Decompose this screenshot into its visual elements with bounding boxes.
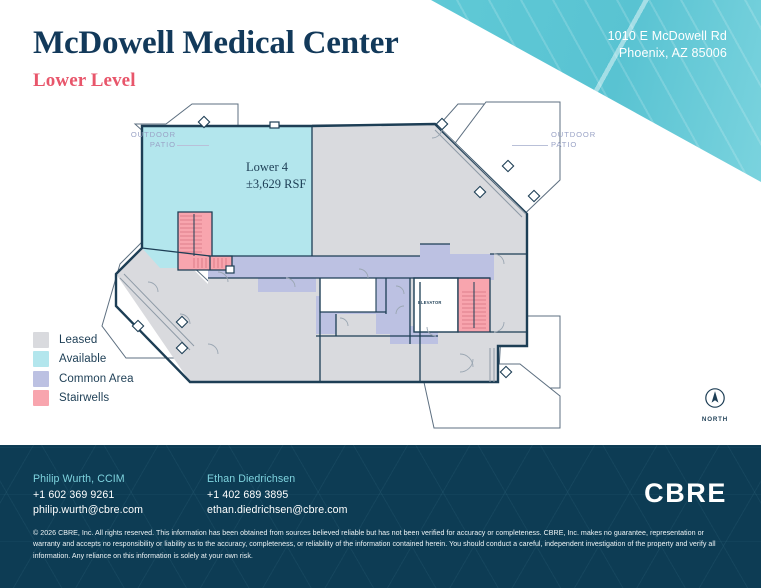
patio-right-leader-line [512, 145, 548, 146]
suite-name: Lower 4 [246, 159, 306, 176]
address-line-2: Phoenix, AZ 85006 [608, 45, 727, 62]
suite-label: Lower 4 ±3,629 RSF [246, 159, 306, 193]
compass-icon [704, 387, 726, 409]
property-address: 1010 E McDowell Rd Phoenix, AZ 85006 [608, 28, 727, 62]
legend-swatch-available [33, 351, 49, 367]
patio-right-line-2: PATIO [551, 140, 623, 150]
page-subtitle: Lower Level [33, 68, 136, 94]
footer: Philip Wurth, CCIM +1 602 369 9261 phili… [0, 445, 761, 588]
north-compass: NORTH [698, 387, 732, 423]
legend-swatch-leased [33, 332, 49, 348]
cbre-logo: CBRE [644, 478, 727, 508]
legend-swatch-common-area [33, 371, 49, 387]
address-line-1: 1010 E McDowell Rd [608, 28, 727, 45]
contact-name: Ethan Diedrichsen [207, 472, 345, 487]
contact-email[interactable]: ethan.diedrichsen@cbre.com [207, 503, 345, 518]
flyer-page: 1010 E McDowell Rd Phoenix, AZ 85006 McD… [0, 0, 761, 588]
contact-phone[interactable]: +1 402 689 3895 [207, 488, 345, 503]
patio-left-leader-line [177, 145, 209, 146]
legend-swatch-stairwells [33, 390, 49, 406]
elevator-label: ELEVATOR [418, 300, 442, 305]
interior-white-rooms [320, 278, 376, 312]
contact-phone[interactable]: +1 602 369 9261 [33, 488, 171, 503]
compass-label: NORTH [698, 416, 732, 423]
patio-left-line-1: OUTDOOR [112, 130, 176, 140]
contact-card: Ethan Diedrichsen +1 402 689 3895 ethan.… [207, 472, 345, 518]
contact-card: Philip Wurth, CCIM +1 602 369 9261 phili… [33, 472, 171, 518]
contact-name: Philip Wurth, CCIM [33, 472, 171, 487]
contact-list: Philip Wurth, CCIM +1 602 369 9261 phili… [33, 472, 345, 518]
suite-area: ±3,629 RSF [246, 176, 306, 193]
legal-disclaimer: © 2026 CBRE, Inc. All rights reserved. T… [33, 528, 733, 562]
contact-email[interactable]: philip.wurth@cbre.com [33, 503, 171, 518]
patio-label-right: OUTDOOR PATIO [551, 130, 623, 150]
patio-label-left: OUTDOOR PATIO [112, 130, 176, 150]
page-title: McDowell Medical Center [33, 23, 399, 63]
patio-left-line-2: PATIO [112, 140, 176, 150]
patio-right-line-1: OUTDOOR [551, 130, 623, 140]
